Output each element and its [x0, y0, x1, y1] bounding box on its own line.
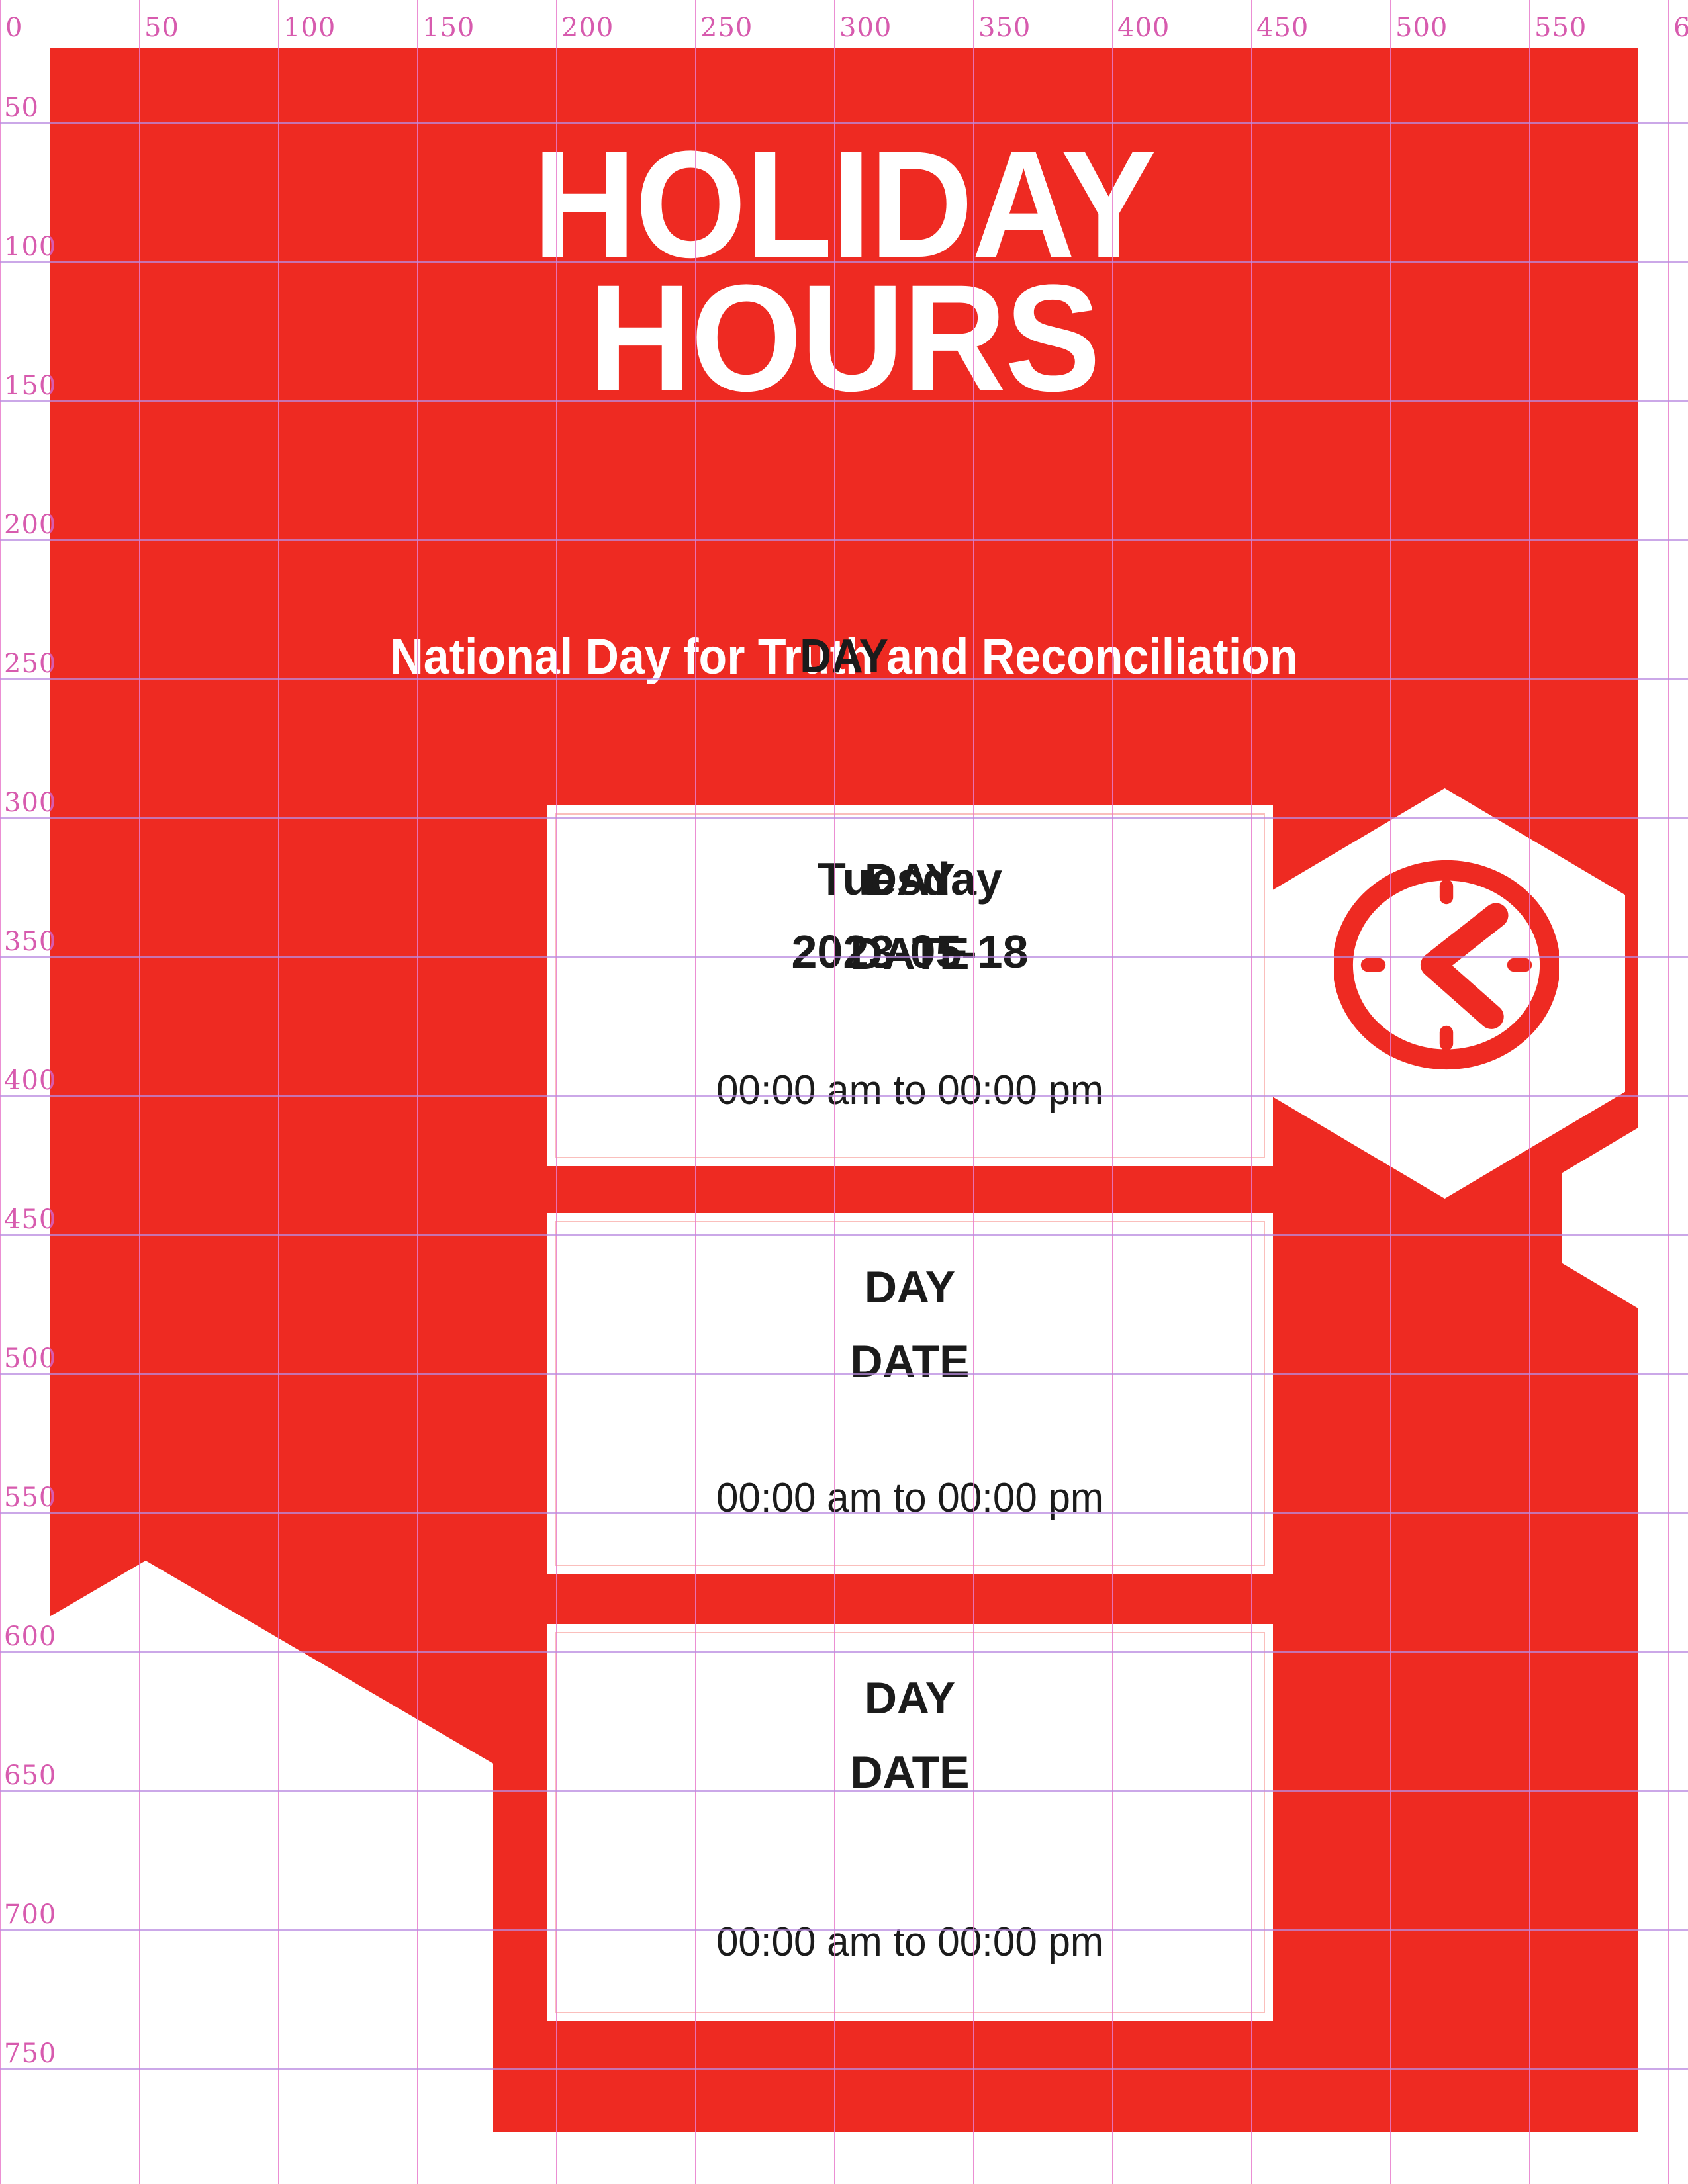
ruler-tick-y: 100: [4, 234, 56, 260]
card-day-placeholder: DAY: [547, 1265, 1273, 1310]
ruler-tick-y: 500: [4, 1345, 56, 1372]
hours-card[interactable]: DAY DATE 00:00 am to 00:00 pm: [547, 1213, 1273, 1574]
ruler-tick-y: 600: [4, 1623, 56, 1650]
subtitle-overlay-day-label: DAY: [113, 633, 1575, 680]
ruler-tick-x: 100: [283, 15, 336, 41]
ruler-tick-y: 350: [4, 929, 56, 955]
hours-card[interactable]: DAY DATE Tuesday 2023-05-18 00:00 am to …: [547, 805, 1273, 1166]
ruler-tick-x: 500: [1395, 15, 1448, 41]
ruler-tick-x: 200: [561, 15, 614, 41]
ruler-gridline-vertical: [0, 0, 1, 2184]
hexagon-shape-bottom-left-icon: [50, 1561, 493, 2132]
ruler-tick-y: 750: [4, 2040, 56, 2067]
ruler-tick-y: 650: [4, 1762, 56, 1789]
card-hours: 00:00 am to 00:00 pm: [557, 1922, 1262, 1963]
ruler-tick-x: 350: [978, 15, 1031, 41]
hexagon-shape-small-icon: [1562, 1124, 1638, 1312]
headline-line-2: HOURS: [97, 271, 1591, 405]
page-title: HOLIDAY HOURS: [97, 138, 1591, 406]
ruler-tick-x: 150: [422, 15, 475, 41]
ruler-tick-x: 50: [144, 15, 179, 41]
ruler-tick-y: 550: [4, 1484, 56, 1511]
card-day-value: Tuesday: [547, 856, 1273, 902]
screenshot-canvas: HOLIDAY HOURS National Day for Truth and…: [0, 0, 1688, 2184]
ruler-tick-y: 250: [4, 651, 56, 677]
card-date-placeholder: DATE: [547, 1339, 1273, 1384]
ruler-tick-y: 700: [4, 1901, 56, 1928]
ruler-tick-y: 450: [4, 1206, 56, 1233]
card-hours: 00:00 am to 00:00 pm: [557, 1478, 1262, 1519]
ruler-tick-y: 50: [4, 95, 39, 121]
ruler-tick-x: 450: [1256, 15, 1309, 41]
ruler-tick-x: 400: [1117, 15, 1170, 41]
ruler-tick-x: 250: [700, 15, 753, 41]
ruler-tick-x: 0: [5, 15, 23, 41]
card-date-placeholder: DATE: [547, 1750, 1273, 1795]
ruler-tick-y: 400: [4, 1068, 56, 1094]
ruler-tick-y: 300: [4, 790, 56, 816]
holiday-hours-poster: HOLIDAY HOURS National Day for Truth and…: [50, 48, 1638, 2132]
ruler-tick-y: 150: [4, 373, 56, 399]
card-hours: 00:00 am to 00:00 pm: [557, 1070, 1262, 1111]
ruler-tick-x: 300: [839, 15, 892, 41]
clock-icon: [1334, 852, 1559, 1077]
ruler-tick-y: 200: [4, 512, 56, 538]
ruler-gridline-vertical: [1668, 0, 1669, 2184]
ruler-tick-x: 550: [1534, 15, 1587, 41]
hours-card[interactable]: DAY DATE 00:00 am to 00:00 pm: [547, 1624, 1273, 2021]
card-date-value: 2023-05-18: [547, 929, 1273, 975]
ruler-tick-x: 60: [1673, 15, 1688, 41]
card-day-placeholder: DAY: [547, 1676, 1273, 1721]
